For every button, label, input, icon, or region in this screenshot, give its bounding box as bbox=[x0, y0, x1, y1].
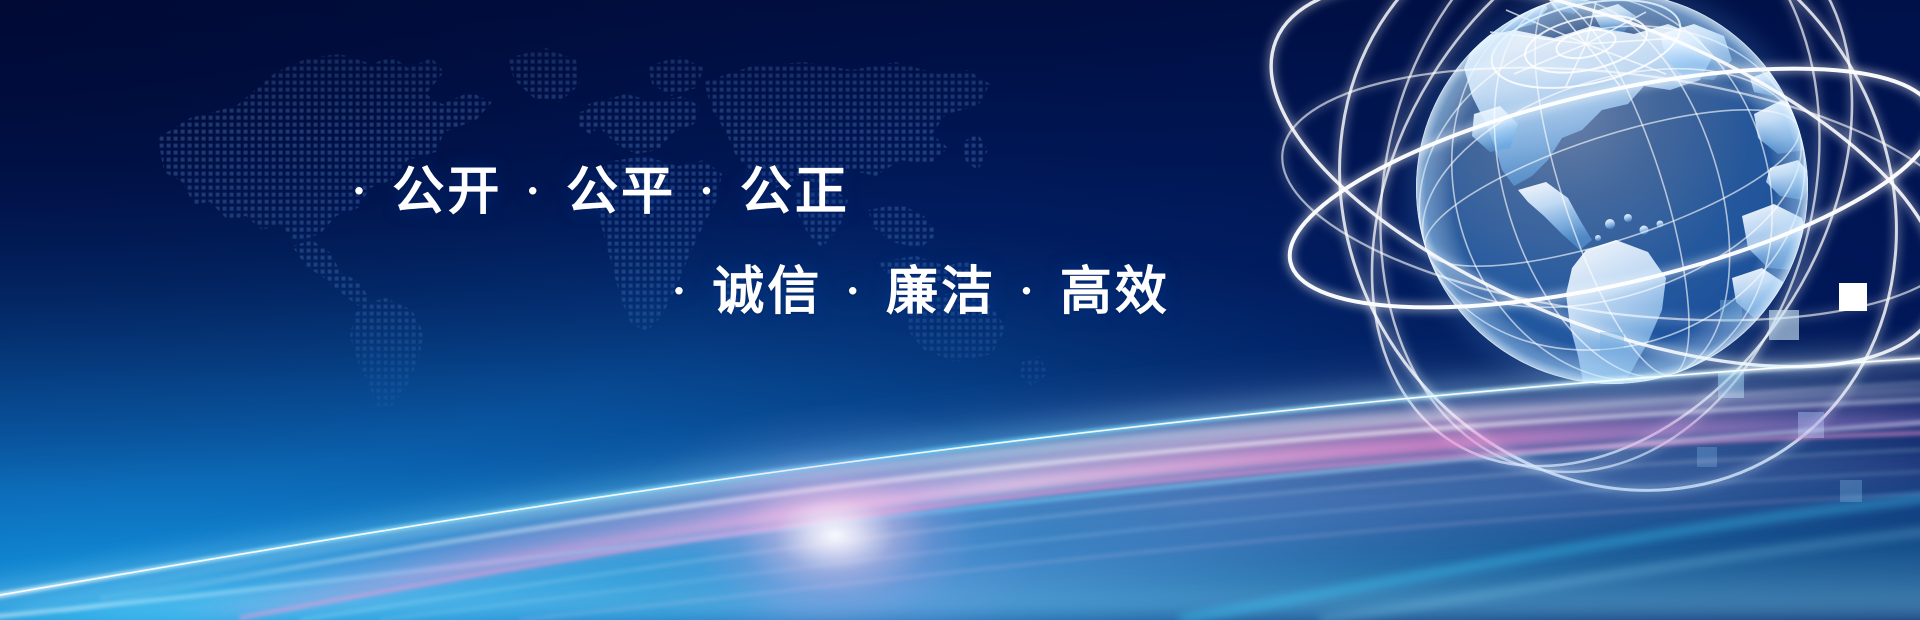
slogan-line1-word-3: 公正 bbox=[740, 161, 850, 222]
slogan-line-1: · 公开 · 公平 · 公正 bbox=[352, 149, 852, 224]
slogan-line2-word-1: 诚信 bbox=[712, 261, 822, 322]
banner-root: · 公开 · 公平 · 公正 · 诚信 · 廉洁 · 高效 bbox=[0, 0, 1920, 620]
slogan-line2-word-2: 廉洁 bbox=[886, 261, 996, 322]
slogan-line-2: · 诚信 · 廉洁 · 高效 bbox=[672, 249, 1172, 324]
slogan-line2-sep-1: · bbox=[672, 268, 689, 315]
slogan-line1-word-2: 公平 bbox=[566, 161, 676, 222]
slogan-line1-sep-2: · bbox=[526, 168, 543, 215]
slogan-line1-word-1: 公开 bbox=[392, 161, 502, 222]
slogan-line1-sep-1: · bbox=[352, 168, 369, 215]
slogan-line2-sep-3: · bbox=[1020, 268, 1037, 315]
slogan-line1-sep-3: · bbox=[700, 168, 717, 215]
slogan-line2-sep-2: · bbox=[846, 268, 863, 315]
light-streaks bbox=[0, 280, 1920, 620]
slogan-line2-word-3: 高效 bbox=[1060, 261, 1170, 322]
